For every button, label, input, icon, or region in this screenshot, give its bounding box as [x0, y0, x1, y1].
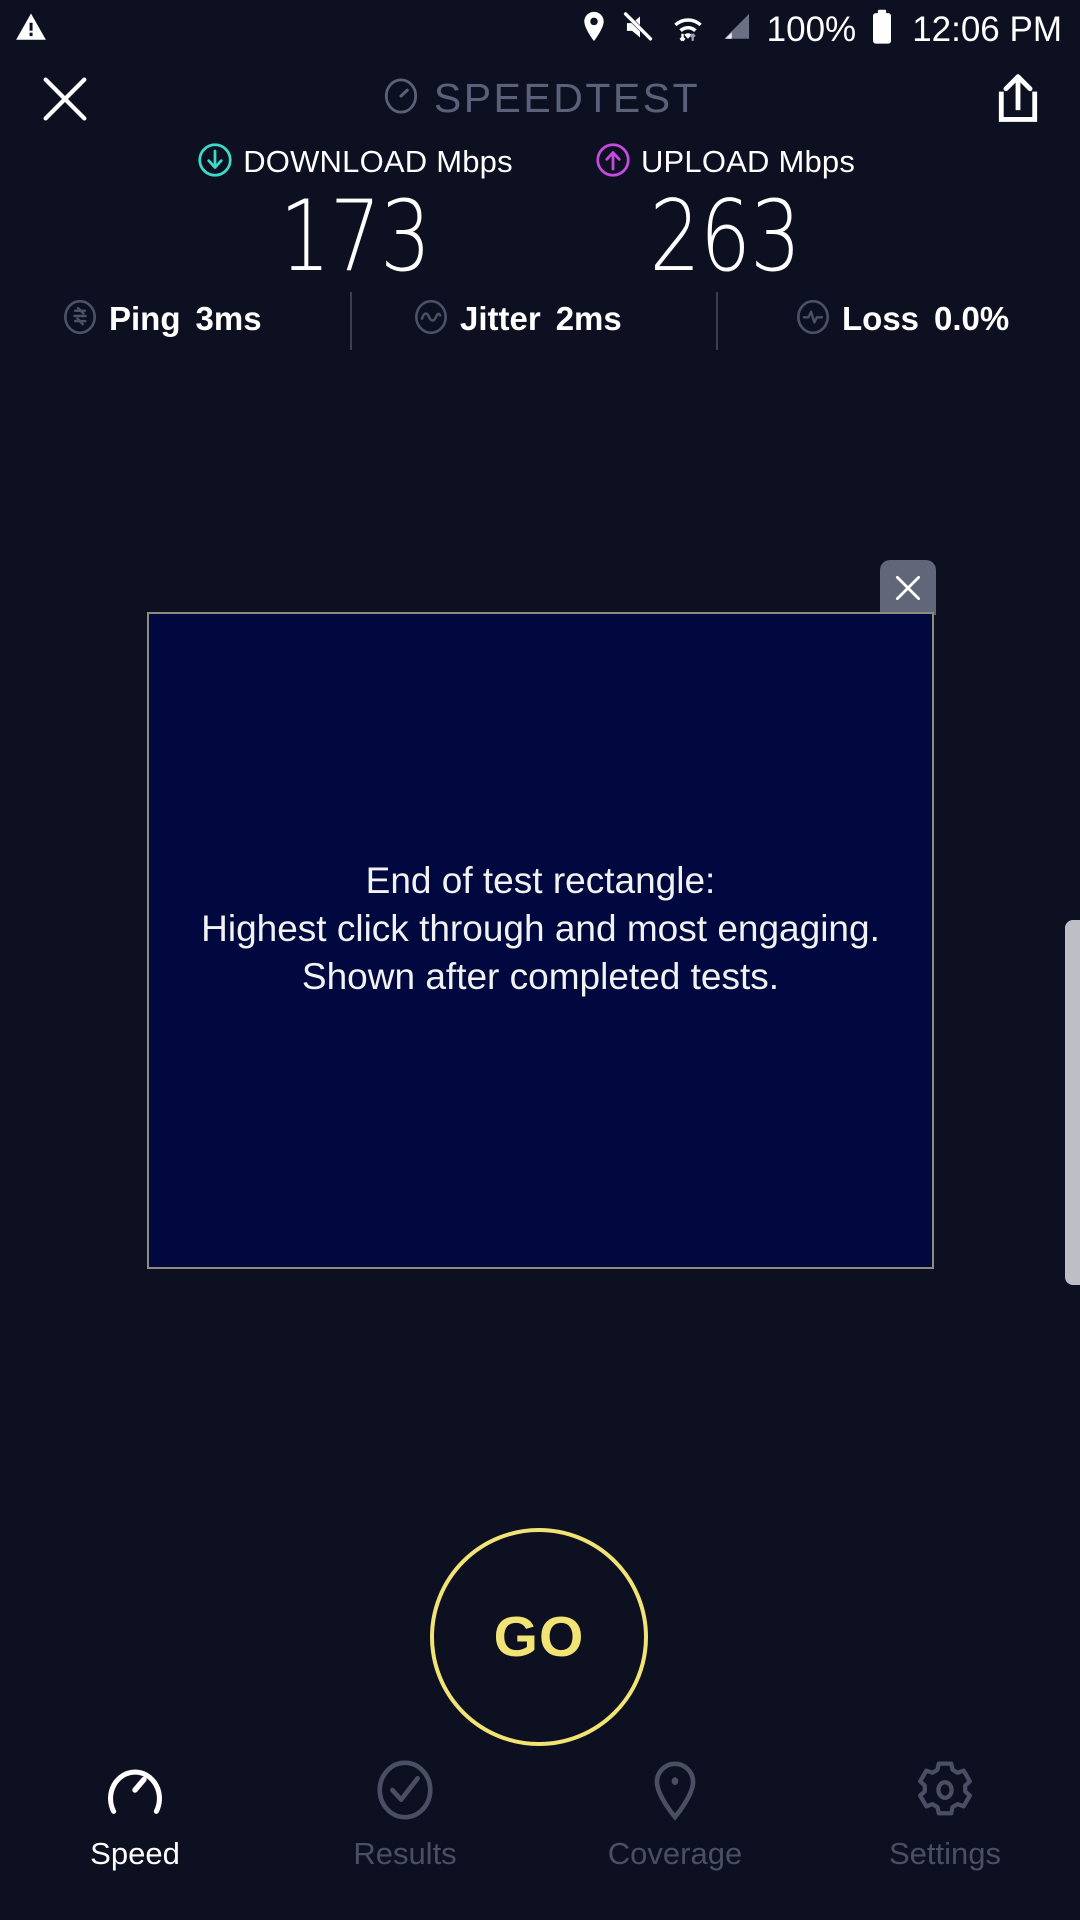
nav-label-results: Results: [353, 1836, 456, 1872]
results-panel: DOWNLOAD Mbps 173 UPLOAD Mbps 263: [0, 140, 1080, 364]
jitter-label: Jitter: [460, 300, 541, 338]
speedometer-icon: [102, 1754, 168, 1826]
app-brand: SPEEDTEST: [0, 58, 1080, 138]
loss-value: 0.0%: [934, 300, 1009, 338]
location-pin-icon: [579, 10, 609, 49]
status-bar-right: 100% 12:06 PM: [579, 9, 1062, 50]
go-button-label: GO: [494, 1604, 585, 1670]
app-header: SPEEDTEST: [0, 58, 1080, 138]
clock-label: 12:06 PM: [912, 12, 1062, 47]
divider: [716, 292, 718, 350]
close-icon[interactable]: [34, 68, 96, 130]
loss-icon: [795, 299, 831, 340]
jitter-metric: Jitter 2ms: [413, 294, 622, 344]
upload-metric: UPLOAD Mbps 263: [545, 140, 905, 290]
ping-value: 3ms: [196, 300, 262, 338]
warning-triangle-icon: [14, 10, 48, 49]
close-icon: [891, 571, 925, 605]
status-bar: 100% 12:06 PM: [0, 0, 1080, 58]
download-metric-label: DOWNLOAD Mbps: [243, 144, 513, 180]
scrollbar[interactable]: [1065, 920, 1080, 1285]
download-value: 173: [207, 184, 502, 290]
nav-item-results[interactable]: Results: [270, 1740, 540, 1920]
nav-label-speed: Speed: [90, 1836, 180, 1872]
speedometer-icon: [380, 75, 422, 122]
download-metric: DOWNLOAD Mbps 173: [175, 140, 535, 290]
ping-label: Ping: [109, 300, 181, 338]
go-button[interactable]: GO: [430, 1528, 648, 1746]
download-upload-row: DOWNLOAD Mbps 173 UPLOAD Mbps 263: [0, 140, 1080, 290]
jitter-icon: [413, 299, 449, 340]
check-circle-icon: [372, 1754, 438, 1826]
loss-metric: Loss 0.0%: [795, 294, 1009, 344]
divider: [350, 292, 352, 350]
nav-item-settings[interactable]: Settings: [810, 1740, 1080, 1920]
status-bar-left: [14, 10, 48, 49]
nav-label-coverage: Coverage: [608, 1836, 742, 1872]
loss-label: Loss: [842, 300, 919, 338]
ping-icon: [62, 299, 98, 340]
upload-value: 263: [577, 184, 872, 290]
gear-icon: [912, 1754, 978, 1826]
download-arrow-icon: [197, 142, 233, 183]
ad-close-button[interactable]: [880, 560, 936, 615]
upload-metric-header: UPLOAD Mbps: [545, 140, 905, 184]
share-icon[interactable]: [986, 66, 1050, 132]
download-metric-header: DOWNLOAD Mbps: [175, 140, 535, 184]
nav-item-speed[interactable]: Speed: [0, 1740, 270, 1920]
nav-item-coverage[interactable]: Coverage: [540, 1740, 810, 1920]
battery-percent-label: 100%: [767, 12, 857, 47]
cellular-signal-icon: [719, 10, 753, 49]
scrollbar-thumb[interactable]: [1065, 920, 1080, 1285]
app-brand-label: SPEEDTEST: [434, 75, 700, 122]
location-pin-icon: [642, 1754, 708, 1826]
upload-metric-label: UPLOAD Mbps: [641, 144, 855, 180]
jitter-value: 2ms: [556, 300, 622, 338]
ping-jitter-loss-row: Ping 3ms Jitter 2ms Loss 0.0%: [0, 294, 1080, 364]
volume-muted-icon: [623, 10, 657, 49]
upload-arrow-icon: [595, 142, 631, 183]
advertisement-banner[interactable]: End of test rectangle: Highest click thr…: [147, 612, 934, 1269]
nav-label-settings: Settings: [889, 1836, 1001, 1872]
bottom-navigation: Speed Results Coverage Settings: [0, 1740, 1080, 1920]
wifi-icon: [671, 10, 705, 49]
ping-metric: Ping 3ms: [62, 294, 262, 344]
battery-full-icon: [870, 9, 894, 50]
advertisement-text: End of test rectangle: Highest click thr…: [201, 857, 880, 1001]
